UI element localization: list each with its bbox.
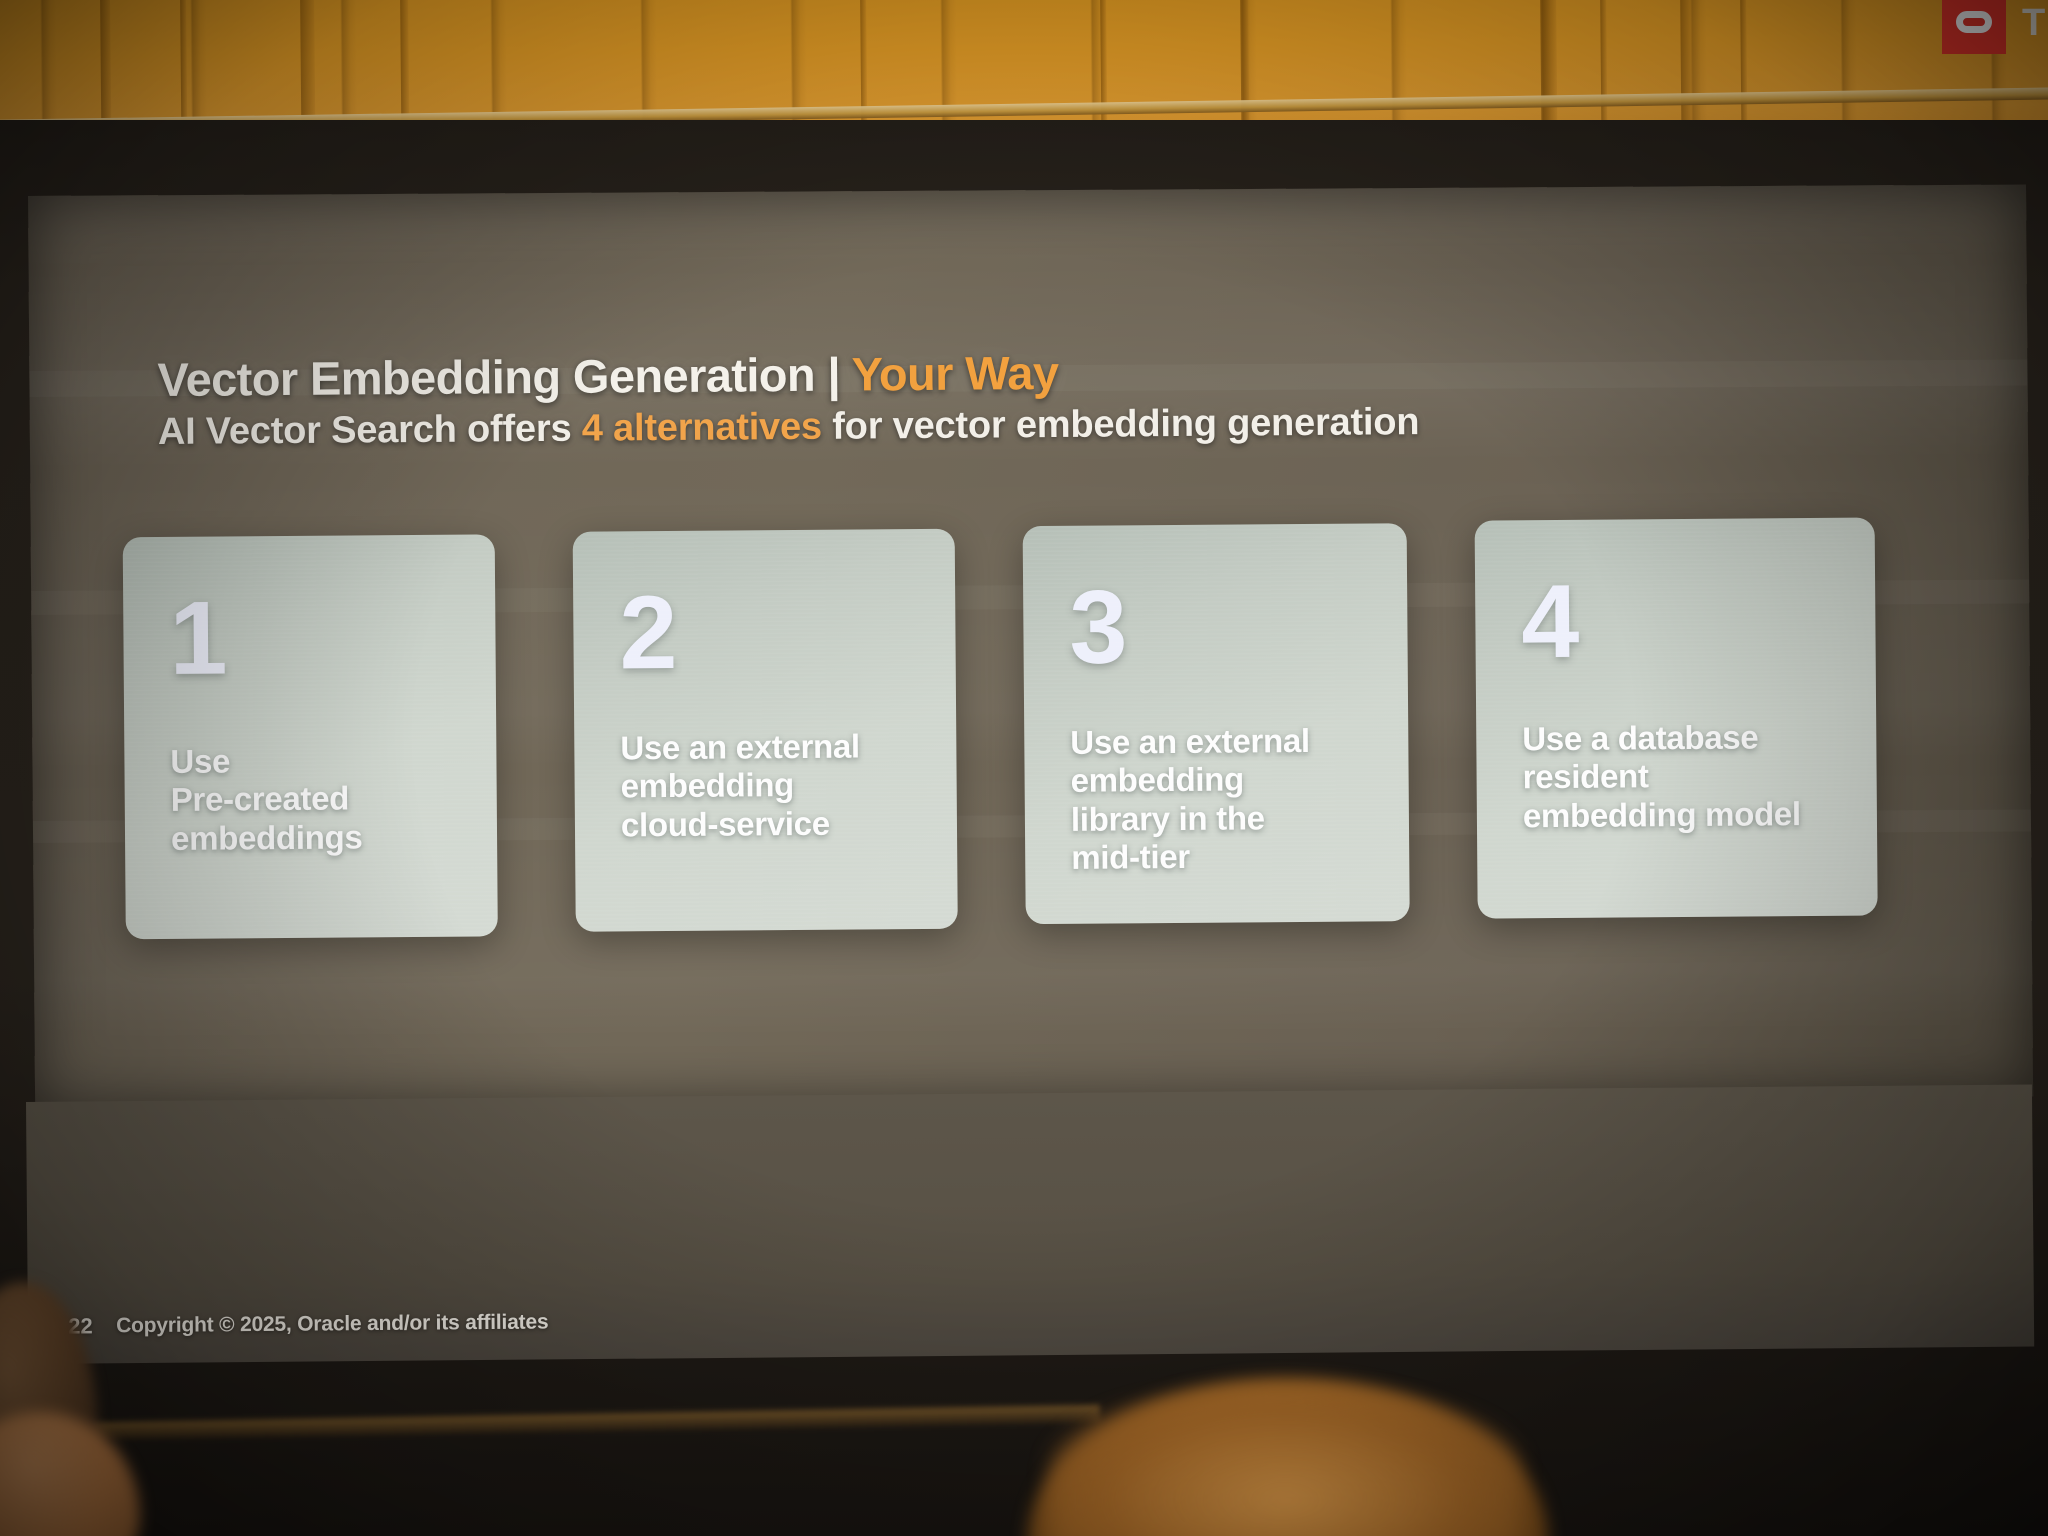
audience-head-center-hair bbox=[1050, 1388, 1520, 1536]
card-number-1: 1 bbox=[169, 586, 226, 690]
alternative-card-1: 1 Use Pre-created embeddings bbox=[123, 534, 498, 939]
card-number-3: 3 bbox=[1069, 575, 1126, 679]
copyright-text: Copyright © 2025, Oracle and/or its affi… bbox=[116, 1310, 548, 1338]
card-number-4: 4 bbox=[1521, 570, 1578, 674]
page-subtitle-accent: 4 alternatives bbox=[582, 406, 822, 450]
card-text-4: Use a database resident embedding model bbox=[1522, 718, 1859, 835]
page-title-main: Vector Embedding Generation | bbox=[157, 348, 852, 406]
page-subtitle-post: for vector embedding generation bbox=[822, 401, 1420, 448]
page-title-accent: Your Way bbox=[851, 346, 1058, 401]
page-subtitle-pre: AI Vector Search offers bbox=[158, 408, 582, 453]
card-text-3: Use an external embedding library in the… bbox=[1070, 721, 1391, 877]
card-number-2: 2 bbox=[619, 581, 676, 685]
alternative-card-2: 2 Use an external embedding cloud-servic… bbox=[573, 529, 958, 932]
alternative-card-3: 3 Use an external embedding library in t… bbox=[1023, 523, 1410, 924]
oracle-o-ring bbox=[1956, 11, 1992, 33]
slide-content: Vector Embedding Generation | Your Way A… bbox=[28, 180, 2035, 1376]
brand-letter: T bbox=[2022, 4, 2045, 42]
slide-header: Vector Embedding Generation | Your Way A… bbox=[157, 343, 1718, 455]
page-subtitle: AI Vector Search offers 4 alternatives f… bbox=[158, 399, 1718, 454]
page-title: Vector Embedding Generation | Your Way bbox=[157, 343, 1717, 405]
alternative-card-4: 4 Use a database resident embedding mode… bbox=[1475, 518, 1878, 919]
card-text-1: Use Pre-created embeddings bbox=[170, 740, 479, 857]
oracle-logo-icon bbox=[1942, 0, 2006, 54]
photo-of-projected-slide: Vector Embedding Generation | Your Way A… bbox=[0, 0, 2048, 1536]
card-text-2: Use an external embedding cloud-service bbox=[620, 727, 939, 844]
alternatives-card-group: 1 Use Pre-created embeddings 2 Use an ex… bbox=[123, 519, 1946, 953]
